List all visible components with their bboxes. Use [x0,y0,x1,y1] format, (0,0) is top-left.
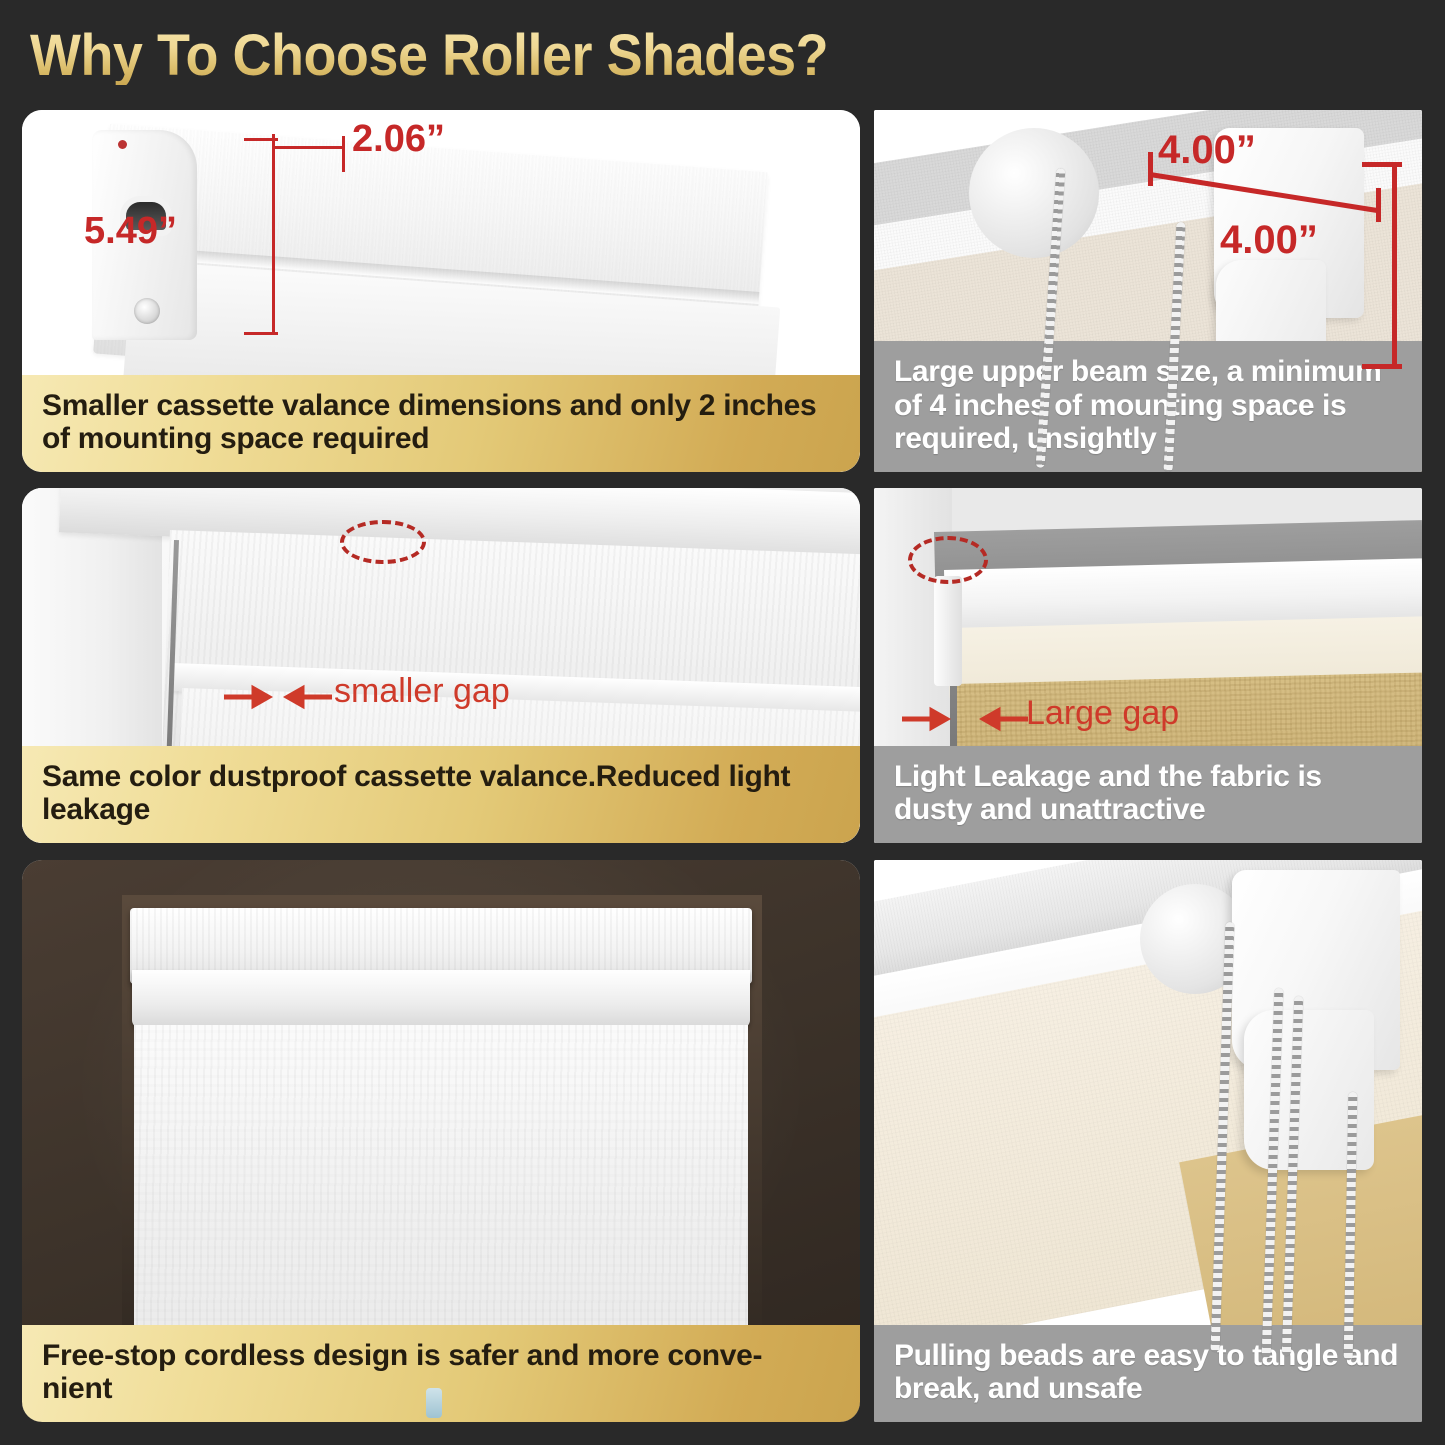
beam-width-dimension-label: 4.00” [1158,128,1256,173]
caption-text: Pulling beads are easy to tangle and bre… [894,1339,1398,1406]
beam-width-left-tick [1148,152,1153,186]
height-dim-line [272,138,275,334]
beam-width-right-tick [1376,188,1381,222]
beam-height-dimension-label: 4.00” [1220,218,1318,263]
height-dim-top-tick [244,138,278,141]
valance-screw [134,298,160,324]
large-gap-label: Large gap [1026,694,1179,733]
page-title: Why To Choose Roller Shades? [30,16,1130,96]
width-dim-left-tick [342,136,345,172]
width-dim-line [272,146,344,149]
panel-large-gap: Large gap Light Leakage and the fabric i… [874,488,1422,843]
panel-caption-pull-beads: Pulling beads are easy to tangle and bre… [874,1325,1422,1422]
gap-arrow-right-icon [970,706,1028,732]
panel-caption-smaller-gap: Same color dustproof cassette valance.Re… [22,746,860,843]
beam-height-dim-line [1392,162,1397,368]
caption-line-1: Free-stop cordless design is safer and m… [42,1339,762,1372]
panel-cordless: Free-stop cordless design is safer and m… [22,860,860,1422]
height-dimension-label: 5.49” [84,210,177,253]
caption-text: Smaller cassette valance dimensions and … [42,389,816,456]
width-dimension-label: 2.06” [352,118,445,161]
panel-pull-beads: Pulling beads are easy to tangle and bre… [874,860,1422,1422]
panel-caption-valance: Smaller cassette valance dimensions and … [22,375,860,472]
gap-arrow-right-icon [274,684,332,710]
panel-smaller-gap: smaller gap Same color dustproof cassett… [22,488,860,843]
beam-height-top-tick [1362,162,1402,167]
measure-point-dot [118,140,127,149]
gap-arrow-left-icon [902,706,960,732]
caption-text: Light Leakage and the fabric is dusty an… [894,760,1322,827]
panel-valance-dimensions: 2.06” 5.49” Smaller cassette valance dim… [22,110,860,472]
smaller-gap-label: smaller gap [334,672,510,711]
pull-tab [426,1388,442,1418]
gap-highlight-ellipse [340,520,426,564]
beam-height-bottom-tick [1362,364,1402,369]
panel-caption-large-gap: Light Leakage and the fabric is dusty an… [874,746,1422,843]
roller-tube-end [969,128,1099,258]
gap-highlight-ellipse [908,536,988,584]
side-bracket [934,576,962,686]
roller-tube [132,970,750,1028]
caption-line-2: nient [42,1372,112,1405]
caption-text: Large upper beam size, a minimum of 4 in… [894,355,1381,455]
caption-text: Same color dustproof cassette valance.Re… [42,760,790,827]
page-title-text: Why To Choose Roller Shades? [30,27,828,85]
panel-large-beam: 4.00” 4.00” Large upper beam size, a min… [874,110,1422,472]
panel-caption-large-beam: Large upper beam size, a minimum of 4 in… [874,341,1422,472]
height-dim-bottom-tick [244,332,278,335]
